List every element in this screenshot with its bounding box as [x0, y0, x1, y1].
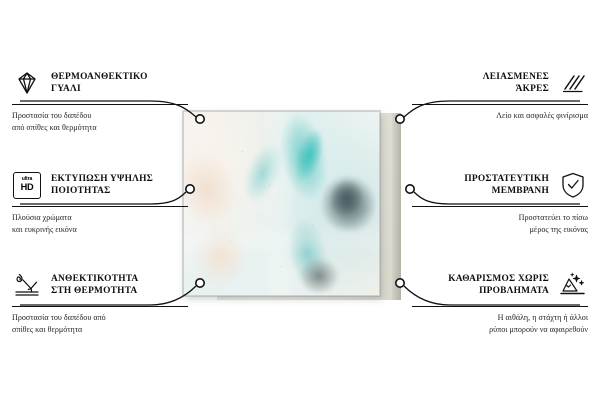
- divider: [12, 104, 188, 105]
- diamond-icon: [12, 68, 42, 98]
- feature-description: Πλούσια χρώματα και ευκρινής εικόνα: [12, 212, 188, 235]
- feature-high-quality-print: ultra HD ΕΚΤΥΠΩΣΗ ΥΨΗΛΗΣ ΠΟΙΟΤΗΤΑΣ Πλούσ…: [12, 168, 188, 235]
- divider: [412, 306, 588, 307]
- feature-description: Προστασία του δαπέδου από σπίθες και θερ…: [12, 110, 188, 133]
- feature-header: ΑΝΘΕΚΤΙΚΟΤΗΤΑ ΣΤΗ ΘΕΡΜΟΤΗΤΑ: [12, 268, 188, 302]
- feature-polished-edges: ΛΕΙΑΣΜΕΝΕΣ ΆΚΡΕΣ Λείο και ασφαλές φινίρι…: [412, 66, 588, 122]
- feature-title: ΑΝΘΕΚΤΙΚΟΤΗΤΑ ΣΤΗ ΘΕΡΜΟΤΗΤΑ: [51, 273, 138, 298]
- feature-easy-cleaning: ΚΑΘΑΡΙΣΜΟΣ ΧΩΡΙΣ ΠΡΟΒΛΗΜΑΤΑ Η αιθάλη, η …: [412, 268, 588, 335]
- divider: [412, 104, 588, 105]
- feature-title: ΕΚΤΥΠΩΣΗ ΥΨΗΛΗΣ ΠΟΙΟΤΗΤΑΣ: [51, 173, 153, 198]
- feature-title: ΛΕΙΑΣΜΕΝΕΣ ΆΚΡΕΣ: [483, 71, 549, 96]
- feature-header: ultra HD ΕΚΤΥΠΩΣΗ ΥΨΗΛΗΣ ΠΟΙΟΤΗΤΑΣ: [12, 168, 188, 202]
- ultra-hd-bottom-label: HD: [21, 183, 34, 192]
- feature-header: ΚΑΘΑΡΙΣΜΟΣ ΧΩΡΙΣ ΠΡΟΒΛΗΜΑΤΑ: [412, 268, 588, 302]
- ultra-hd-badge-icon: ultra HD: [12, 170, 42, 200]
- divider: [12, 306, 188, 307]
- sparkle-clean-icon: [558, 270, 588, 300]
- feature-description: Προστατεύει το πίσω μέρος της εικόνας: [412, 212, 588, 235]
- feature-protective-membrane: ΠΡΟΣΤΑΤΕΥΤΙΚΗ ΜΕΜΒΡΑΝΗ Προστατεύει το πί…: [412, 168, 588, 235]
- shield-check-icon: [558, 170, 588, 200]
- divider: [12, 206, 188, 207]
- feature-header: ΠΡΟΣΤΑΤΕΥΤΙΚΗ ΜΕΜΒΡΑΝΗ: [412, 168, 588, 202]
- feature-heat-durability: ΑΝΘΕΚΤΙΚΟΤΗΤΑ ΣΤΗ ΘΕΡΜΟΤΗΤΑ Προστασία το…: [12, 268, 188, 335]
- feature-header: ΘΕΡΜΟΑΝΘΕΚΤΙΚΟ ΓΥΑΛΙ: [12, 66, 188, 100]
- flame-deflect-icon: [12, 270, 42, 300]
- feature-description: Προστασία του δαπέδου από σπίθες και θερ…: [12, 312, 188, 335]
- divider: [412, 206, 588, 207]
- feature-title: ΚΑΘΑΡΙΣΜΟΣ ΧΩΡΙΣ ΠΡΟΒΛΗΜΑΤΑ: [448, 273, 549, 298]
- feature-heat-resistant-glass: ΘΕΡΜΟΑΝΘΕΚΤΙΚΟ ΓΥΑΛΙ Προστασία του δαπέδ…: [12, 66, 188, 133]
- feature-title: ΠΡΟΣΤΑΤΕΥΤΙΚΗ ΜΕΜΒΡΑΝΗ: [464, 173, 549, 198]
- feature-description: Η αιθάλη, η στάχτη ή άλλοι ρύποι μπορούν…: [412, 312, 588, 335]
- polished-edges-icon: [558, 68, 588, 98]
- feature-title: ΘΕΡΜΟΑΝΘΕΚΤΙΚΟ ΓΥΑΛΙ: [51, 71, 148, 96]
- feature-description: Λείο και ασφαλές φινίρισμα: [412, 110, 588, 121]
- infographic-stage: ΘΕΡΜΟΑΝΘΕΚΤΙΚΟ ΓΥΑΛΙ Προστασία του δαπέδ…: [0, 0, 600, 400]
- feature-header: ΛΕΙΑΣΜΕΝΕΣ ΆΚΡΕΣ: [412, 66, 588, 100]
